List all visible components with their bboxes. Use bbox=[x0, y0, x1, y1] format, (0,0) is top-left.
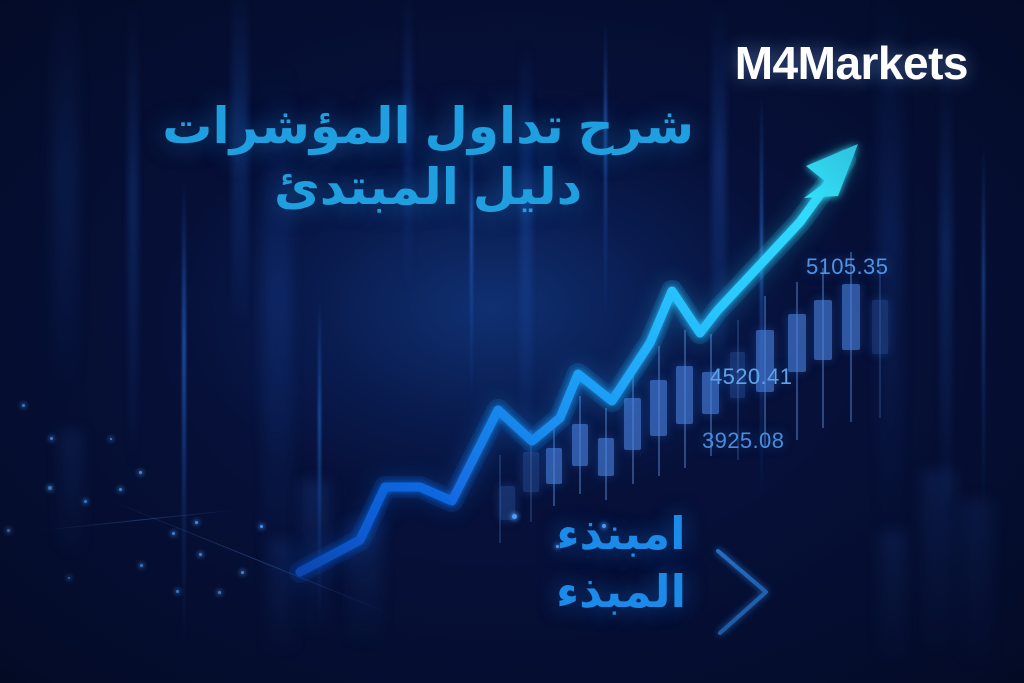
price-label-5105: 5105.35 bbox=[806, 254, 888, 280]
headline-line-2: دليل المبتدئ bbox=[162, 157, 694, 218]
brand-logo: M4Markets bbox=[735, 36, 968, 90]
subtitle-line-1: امبنذء bbox=[556, 505, 686, 563]
price-label-3925: 3925.08 bbox=[702, 428, 784, 454]
headline-line-1: شرح تداول المؤشرات bbox=[162, 96, 694, 157]
subtitle-line-2: المبذء bbox=[556, 563, 686, 621]
page-title: شرح تداول المؤشرات دليل المبتدئ bbox=[162, 96, 694, 218]
banner-root: 5105.35 4520.41 3925.08 M4Markets شرح تد… bbox=[0, 0, 1024, 683]
price-label-4520: 4520.41 bbox=[710, 364, 792, 390]
subtitle-block: امبنذء المبذء bbox=[556, 505, 686, 620]
